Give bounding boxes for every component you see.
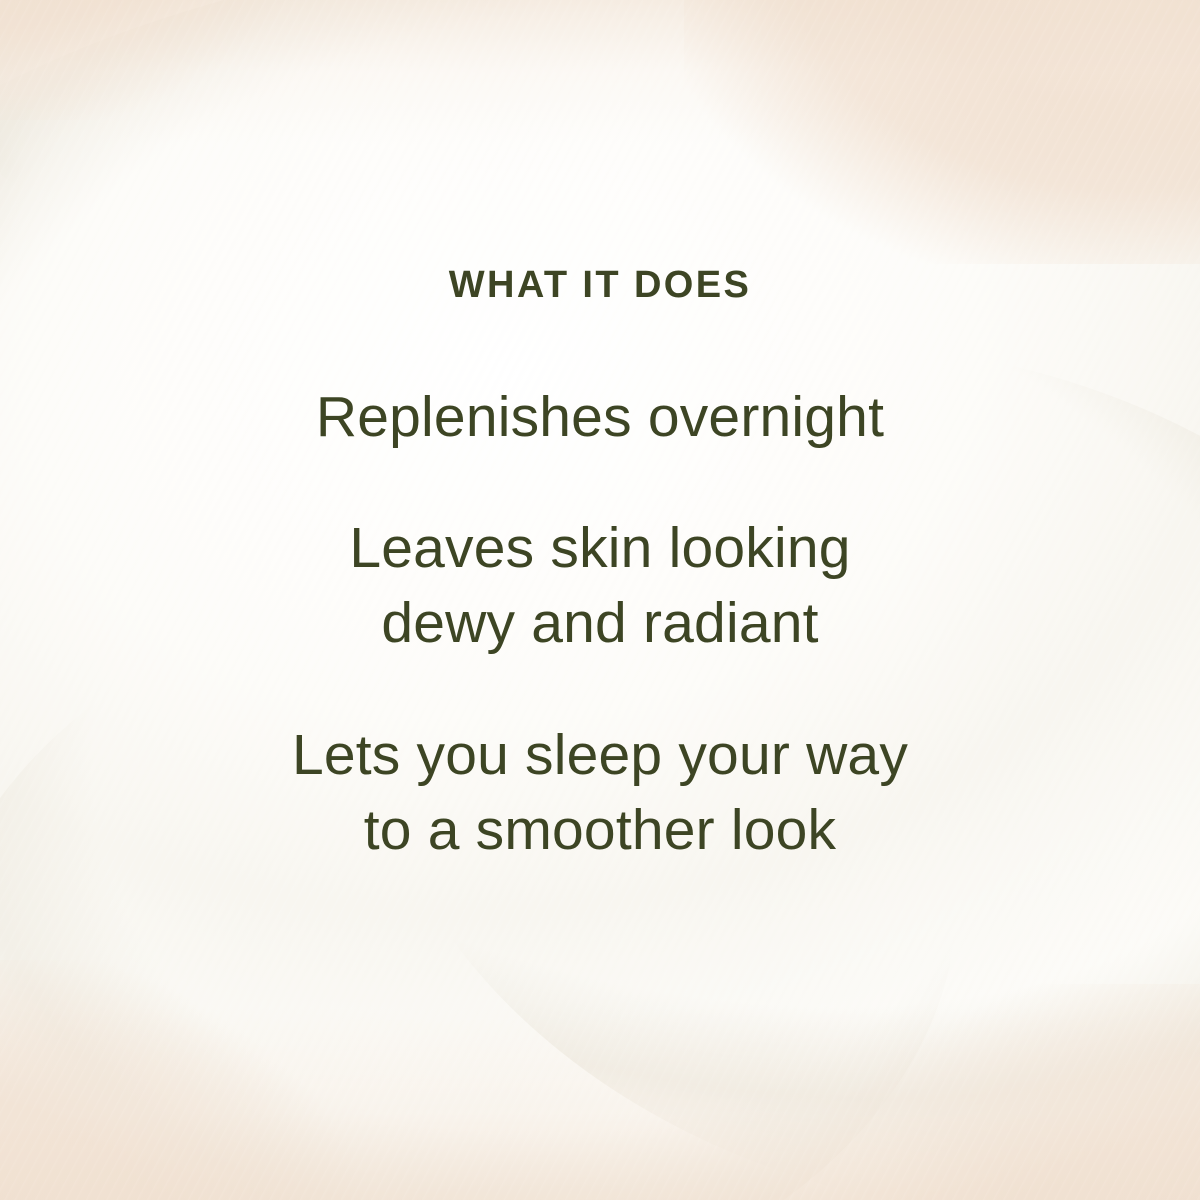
benefit-list: Replenishes overnight Leaves skin lookin… <box>0 380 1200 868</box>
benefit-line: Lets you sleep your way <box>0 718 1200 793</box>
section-eyebrow: WHAT IT DOES <box>0 264 1200 307</box>
benefit-line: Leaves skin looking <box>0 511 1200 586</box>
benefit-line: Replenishes overnight <box>0 380 1200 455</box>
text-overlay: WHAT IT DOES Replenishes overnight Leave… <box>0 0 1200 1200</box>
benefit-item-2: Leaves skin looking dewy and radiant <box>0 511 1200 661</box>
benefit-line: to a smoother look <box>0 793 1200 868</box>
benefit-line: dewy and radiant <box>0 586 1200 661</box>
benefit-item-3: Lets you sleep your way to a smoother lo… <box>0 718 1200 868</box>
product-benefit-graphic: WHAT IT DOES Replenishes overnight Leave… <box>0 0 1200 1200</box>
benefit-item-1: Replenishes overnight <box>0 380 1200 455</box>
